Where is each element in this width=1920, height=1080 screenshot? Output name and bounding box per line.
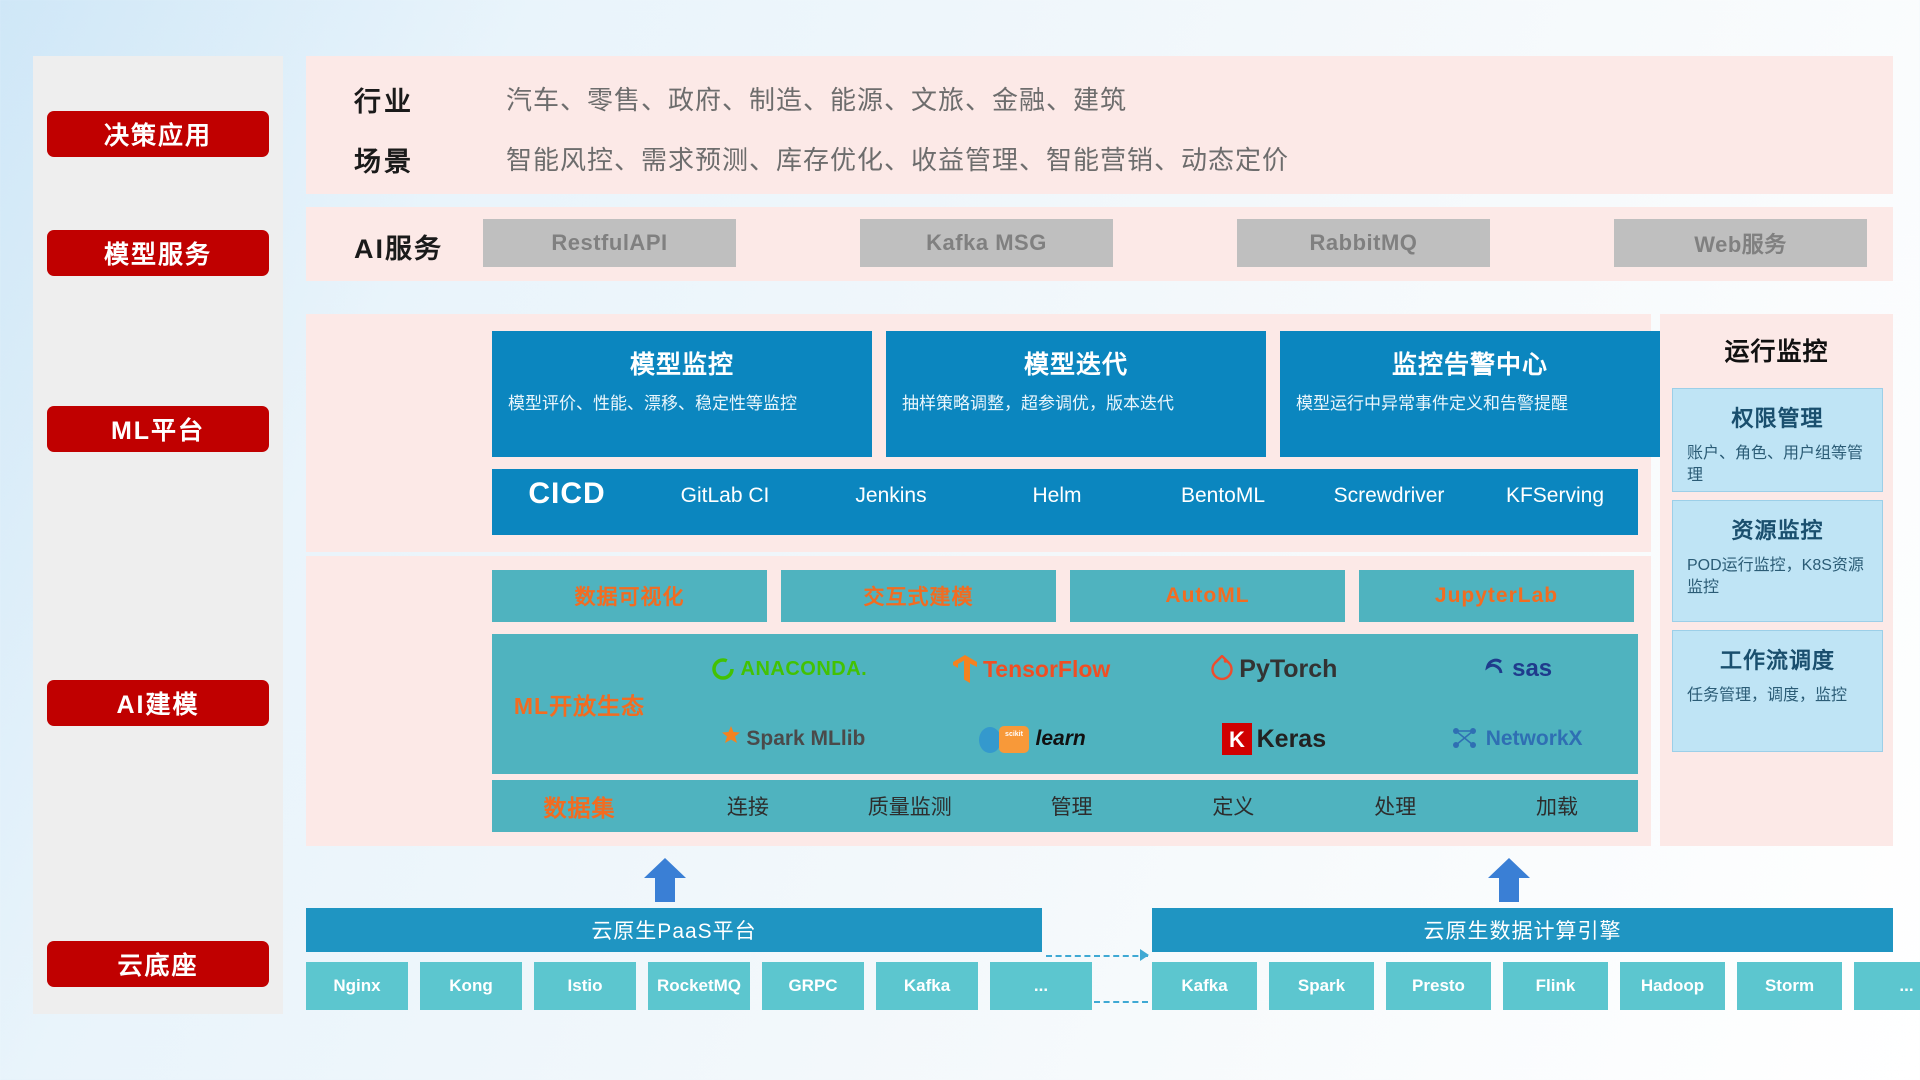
- dash-arrow-right-icon: [1140, 949, 1149, 961]
- cicd-item-helm[interactable]: Helm: [974, 469, 1140, 509]
- box-title: 工作流调度: [1673, 643, 1882, 675]
- ml-lab-panel: 神州数码 ML LAB 数据可视化 交互式建模 AutoML JupyterLa…: [306, 556, 1651, 846]
- dataset-label: 数据集: [492, 789, 667, 823]
- ml-lab-tool-list: 数据可视化 交互式建模 AutoML JupyterLab: [492, 570, 1634, 622]
- ai-service-label: AI服务: [354, 227, 443, 266]
- left-rail: [33, 56, 283, 1014]
- cicd-item-jenkins[interactable]: Jenkins: [808, 469, 974, 509]
- ml-ecosystem-label: ML开放生态: [492, 687, 667, 721]
- spark-logo: Spark MLlib: [711, 726, 865, 752]
- service-restful-api[interactable]: RestfulAPI: [483, 219, 736, 267]
- runtime-monitoring-panel: 运行监控 权限管理 账户、角色、用户组等管理 资源监控 POD运行监控，K8S资…: [1660, 314, 1893, 846]
- service-web[interactable]: Web服务: [1614, 219, 1867, 267]
- industry-value: 汽车、零售、政府、制造、能源、文旅、金融、建筑: [506, 80, 1127, 117]
- tool-data-visualization[interactable]: 数据可视化: [492, 570, 767, 622]
- mlops-panel: MLOps 模型监控 模型评价、性能、漂移、稳定性等监控 模型迭代 抽样策略调整…: [306, 314, 1651, 552]
- cicd-item-kfserving[interactable]: KFServing: [1472, 469, 1638, 509]
- layer-label-text: AI建模: [116, 685, 199, 721]
- card-desc: 模型运行中异常事件定义和告警提醒: [1296, 393, 1646, 416]
- tool-jupyterlab[interactable]: JupyterLab: [1359, 570, 1634, 622]
- dataset-bar: 数据集 连接 质量监测 管理 定义 处理 加载: [492, 780, 1638, 832]
- dataset-item-process[interactable]: 处理: [1314, 791, 1476, 821]
- card-title: 模型监控: [492, 345, 872, 381]
- layer-label-text: ML平台: [111, 411, 205, 447]
- svg-text:K: K: [1229, 727, 1245, 752]
- cicd-bar: CICD GitLab CI Jenkins Helm BentoML Scre…: [492, 469, 1638, 535]
- svg-text:scikit: scikit: [1005, 731, 1024, 738]
- sas-logo: sas: [1481, 655, 1552, 683]
- ai-service-list: RestfulAPI Kafka MSG RabbitMQ Web服务: [483, 219, 1877, 267]
- dash-connector-top: [1046, 955, 1148, 957]
- chip-grpc[interactable]: GRPC: [762, 962, 864, 1010]
- mlops-card-list: 模型监控 模型评价、性能、漂移、稳定性等监控 模型迭代 抽样策略调整，超参调优，…: [492, 331, 1660, 457]
- chip-spark[interactable]: Spark: [1269, 962, 1374, 1010]
- layer-label-text: 决策应用: [104, 116, 212, 152]
- cicd-item-screwdriver[interactable]: Screwdriver: [1306, 469, 1472, 509]
- monitor-box-workflow[interactable]: 工作流调度 任务管理，调度，监控: [1672, 630, 1883, 752]
- pytorch-logo: PyTorch: [1210, 655, 1337, 684]
- chip-storm[interactable]: Storm: [1737, 962, 1842, 1010]
- layer-label-ml-platform[interactable]: ML平台: [47, 406, 269, 452]
- chip-flink[interactable]: Flink: [1503, 962, 1608, 1010]
- chip-more-right[interactable]: ...: [1854, 962, 1920, 1010]
- chip-kafka[interactable]: Kafka: [876, 962, 978, 1010]
- cicd-item-bentoml[interactable]: BentoML: [1140, 469, 1306, 509]
- dataset-item-manage[interactable]: 管理: [991, 791, 1153, 821]
- dataset-item-load[interactable]: 加载: [1476, 791, 1638, 821]
- layer-label-model-service[interactable]: 模型服务: [47, 230, 269, 276]
- service-kafka-msg[interactable]: Kafka MSG: [860, 219, 1113, 267]
- architecture-diagram: 决策应用 模型服务 ML平台 AI建模 云底座 行业 汽车、零售、政府、制造、能…: [0, 0, 1920, 1080]
- card-title: 模型迭代: [886, 345, 1266, 381]
- layer-label-text: 模型服务: [104, 235, 212, 271]
- keras-logo: K Keras: [1222, 723, 1327, 755]
- keras-logo-text: Keras: [1257, 725, 1327, 754]
- box-title: 权限管理: [1673, 401, 1882, 433]
- networkx-logo: NetworkX: [1451, 726, 1583, 752]
- tensorflow-logo: TensorFlow: [952, 654, 1110, 684]
- scenario-value: 智能风控、需求预测、库存优化、收益管理、智能营销、动态定价: [506, 140, 1289, 177]
- ai-service-panel: AI服务 RestfulAPI Kafka MSG RabbitMQ Web服务: [306, 207, 1893, 281]
- dataset-item-quality[interactable]: 质量监测: [829, 791, 991, 821]
- monitor-box-permission[interactable]: 权限管理 账户、角色、用户组等管理: [1672, 388, 1883, 492]
- paas-bar[interactable]: 云原生PaaS平台: [306, 908, 1042, 952]
- chip-more-left[interactable]: ...: [990, 962, 1092, 1010]
- tensorflow-logo-text: TensorFlow: [983, 656, 1110, 683]
- box-title: 资源监控: [1673, 513, 1882, 545]
- paas-chip-list: Nginx Kong Istio RocketMQ GRPC Kafka ...: [306, 962, 1092, 1010]
- mlops-card-model-iteration[interactable]: 模型迭代 抽样策略调整，超参调优，版本迭代: [886, 331, 1266, 457]
- cicd-item-gitlab-ci[interactable]: GitLab CI: [642, 469, 808, 509]
- chip-rocketmq[interactable]: RocketMQ: [648, 962, 750, 1010]
- layer-label-ai-modeling[interactable]: AI建模: [47, 680, 269, 726]
- box-desc: 任务管理，调度，监控: [1687, 685, 1868, 707]
- box-desc: 账户、角色、用户组等管理: [1687, 443, 1868, 486]
- ml-ecosystem-band: ML开放生态 ANACONDA. TensorFlow: [492, 634, 1638, 774]
- chip-istio[interactable]: Istio: [534, 962, 636, 1010]
- layer-label-cloud-base[interactable]: 云底座: [47, 941, 269, 987]
- mlops-card-alert-center[interactable]: 监控告警中心 模型运行中异常事件定义和告警提醒: [1280, 331, 1660, 457]
- tool-interactive-modeling[interactable]: 交互式建模: [781, 570, 1056, 622]
- card-title: 监控告警中心: [1280, 345, 1660, 381]
- monitor-box-resource[interactable]: 资源监控 POD运行监控，K8S资源监控: [1672, 500, 1883, 622]
- scikit-learn-logo: scikit learn: [977, 724, 1086, 754]
- arrow-up-paas-icon: [644, 858, 686, 902]
- dataset-item-connect[interactable]: 连接: [667, 791, 829, 821]
- scenario-label: 场景: [354, 140, 414, 179]
- spark-logo-text: Spark MLlib: [746, 727, 865, 751]
- pytorch-logo-text: PyTorch: [1239, 655, 1337, 684]
- data-engine-chip-list: Kafka Spark Presto Flink Hadoop Storm ..…: [1152, 962, 1920, 1010]
- chip-presto[interactable]: Presto: [1386, 962, 1491, 1010]
- chip-kong[interactable]: Kong: [420, 962, 522, 1010]
- data-engine-bar[interactable]: 云原生数据计算引擎: [1152, 908, 1893, 952]
- tool-automl[interactable]: AutoML: [1070, 570, 1345, 622]
- networkx-logo-text: NetworkX: [1486, 727, 1583, 751]
- layer-label-decision-app[interactable]: 决策应用: [47, 111, 269, 157]
- runtime-monitoring-title: 运行监控: [1660, 332, 1893, 368]
- dataset-item-define[interactable]: 定义: [1152, 791, 1314, 821]
- ml-ecosystem-logo-grid: ANACONDA. TensorFlow PyTorch: [667, 634, 1638, 774]
- anaconda-logo: ANACONDA.: [710, 656, 868, 682]
- scikit-learn-logo-text: learn: [1036, 727, 1086, 751]
- anaconda-logo-text: ANACONDA.: [741, 658, 868, 681]
- card-desc: 抽样策略调整，超参调优，版本迭代: [902, 393, 1252, 416]
- box-desc: POD运行监控，K8S资源监控: [1687, 555, 1868, 598]
- mlops-card-model-monitoring[interactable]: 模型监控 模型评价、性能、漂移、稳定性等监控: [492, 331, 872, 457]
- chip-kafka-right[interactable]: Kafka: [1152, 962, 1257, 1010]
- sas-logo-text: sas: [1512, 655, 1552, 683]
- service-rabbitmq[interactable]: RabbitMQ: [1237, 219, 1490, 267]
- industry-scenario-panel: 行业 汽车、零售、政府、制造、能源、文旅、金融、建筑 场景 智能风控、需求预测、…: [306, 56, 1893, 194]
- industry-label: 行业: [354, 80, 414, 119]
- cicd-title: CICD: [492, 469, 642, 511]
- arrow-up-data-engine-icon: [1488, 858, 1530, 902]
- chip-hadoop[interactable]: Hadoop: [1620, 962, 1725, 1010]
- card-desc: 模型评价、性能、漂移、稳定性等监控: [508, 393, 858, 416]
- chip-nginx[interactable]: Nginx: [306, 962, 408, 1010]
- layer-label-text: 云底座: [117, 946, 198, 982]
